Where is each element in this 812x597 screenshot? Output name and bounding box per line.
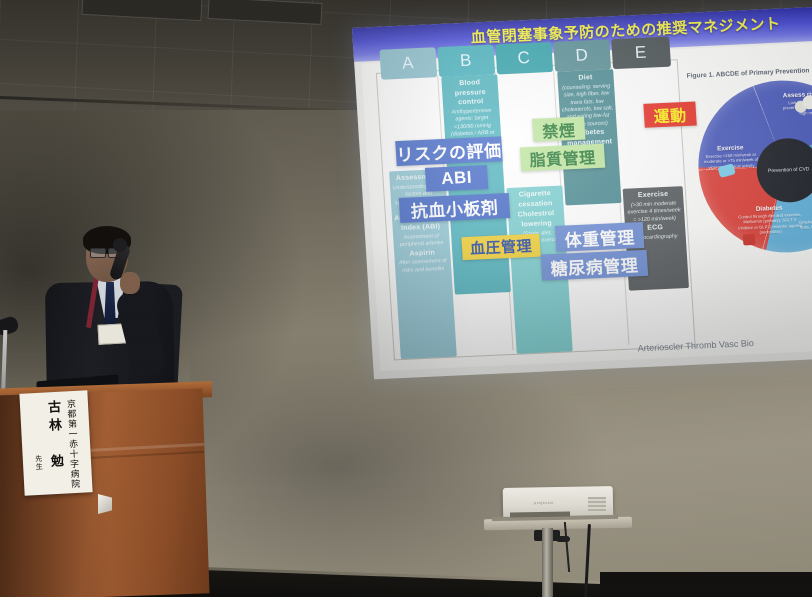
segment-diabetes-body: Control through diet and exercise, Metfo… — [737, 212, 802, 236]
overlay-label-antiplatelet: 抗血小板剤 — [399, 193, 510, 223]
speaker-hand — [120, 272, 140, 294]
segment-diet-body: Emphasis on intake of vegetables, fruits… — [798, 217, 812, 230]
sign-honorific: 先生 — [34, 455, 45, 472]
podium-sign-inner: 京都第一赤十字病院 古林 勉 先生 — [24, 394, 89, 491]
overlay-label-bp-management: 血圧管理 — [461, 234, 540, 260]
overlay-label-abi: ABI — [425, 165, 488, 192]
overlay-label-exercise: 運動 — [643, 101, 696, 127]
abcde-table: A B C D E Assessment Understanding of ri… — [376, 59, 696, 360]
figure-caption: Figure 1. ABCDE of Primary Prevention — [686, 66, 812, 80]
floor-right — [600, 572, 812, 597]
overlay-label-weight-management: 体重管理 — [555, 222, 645, 252]
slide-content-plate: A B C D E Assessment Understanding of ri… — [361, 43, 812, 371]
glucose-meter-icon — [743, 234, 756, 246]
projector-stand-pole — [542, 528, 553, 597]
column-header-a: A — [379, 47, 437, 79]
content-box-b-heading: Blood pressure control — [443, 78, 497, 109]
projection-screen: 血管閉塞事象予防のための推奨マネジメント A B C D E Assessmen… — [352, 7, 812, 380]
column-header-e: E — [611, 37, 671, 70]
microphone-head — [113, 238, 127, 252]
sign-speaker-name: 古林 勉 — [43, 400, 67, 491]
overlay-label-smoking-cessation: 禁煙 — [532, 117, 585, 142]
content-box-b-body: Antihypertensive agents: target <130/80 … — [451, 108, 491, 131]
segment-diabetes-title: Diabetes Control through diet and exerci… — [737, 204, 803, 236]
projector-vent — [588, 497, 606, 511]
segment-exercise-label: Exercise — [717, 144, 744, 152]
overlay-label-diabetes-management: 糖尿病管理 — [541, 250, 649, 281]
content-box-d-heading: Diet — [559, 72, 612, 84]
overlay-label-lipid-management: 脂質管理 — [520, 144, 605, 172]
content-box-e-body: (>30 min moderate exercise 4 times/week … — [627, 200, 680, 223]
podium-name-sign: 京都第一赤十字病院 古林 勉 先生 — [19, 390, 92, 495]
content-box-a-tail-body: After assessment of risks and benefits — [399, 258, 447, 273]
content-box-c-heading: Cigarette cessation — [509, 189, 562, 211]
presentation-photo: 血管閉塞事象予防のための推奨マネジメント A B C D E Assessmen… — [0, 0, 812, 597]
overlay-label-risk-assessment: リスクの評価 — [395, 136, 502, 166]
speaker — [40, 228, 180, 403]
column-header-b: B — [437, 45, 495, 77]
stand-knob — [556, 536, 570, 542]
sign-hospital-name: 京都第一赤十字病院 — [64, 399, 82, 490]
column-header-c: C — [495, 42, 553, 74]
projector-brand-label: projector — [534, 500, 554, 505]
projector-tray-item — [510, 511, 570, 517]
column-header-d: D — [553, 39, 611, 71]
segment-diet-title: Diet / weight Emphasis on intake of vege… — [797, 209, 812, 230]
segment-diabetes-label: Diabetes — [756, 205, 783, 213]
abcde-circle-figure: Assess risk / Aspirin Low dose aspirin f… — [693, 77, 812, 264]
content-box-a-subbody: Assessment of peripheral arteries — [400, 233, 444, 248]
